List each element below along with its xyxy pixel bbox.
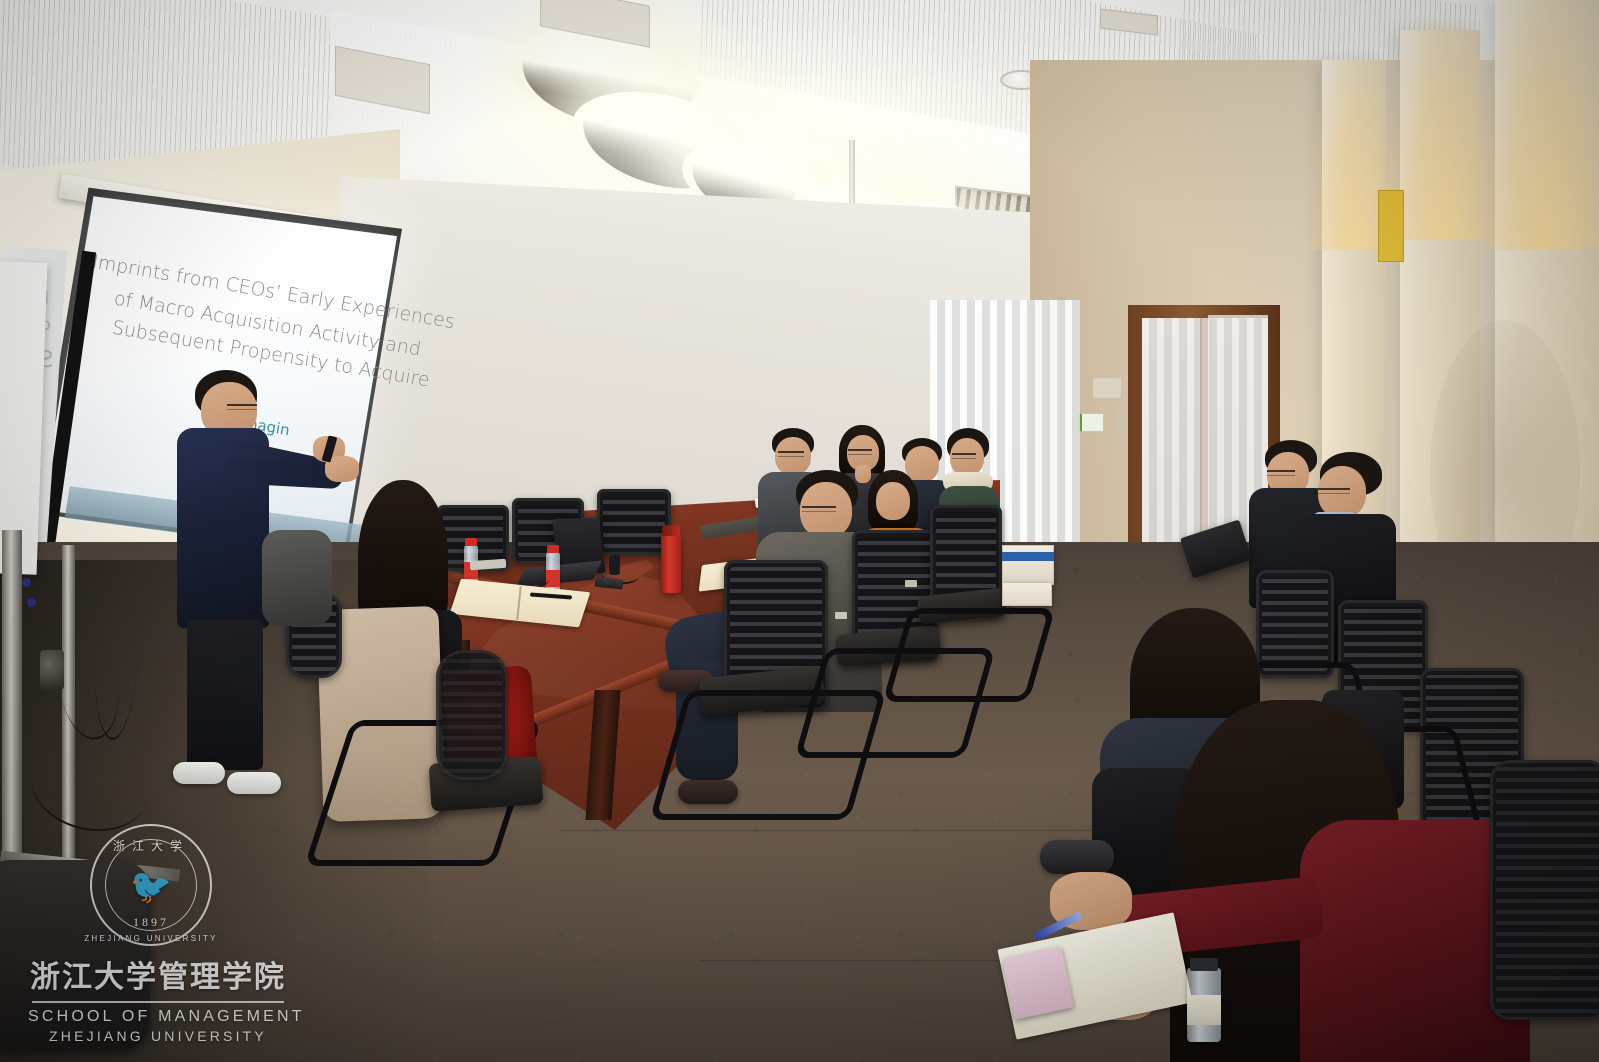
water-bottle-2-cap: [547, 545, 559, 553]
presenter-shoe-right: [227, 772, 281, 794]
water-bottle-5-cap: [1190, 958, 1218, 971]
carton-blue-band: [1002, 552, 1054, 561]
backpack-dark-left: [262, 530, 332, 626]
foreground-chair-back-dark[interactable]: [1490, 760, 1599, 1020]
presenter-glasses: [227, 404, 257, 410]
a9-glasses: [1318, 488, 1350, 494]
a8-glasses: [1267, 470, 1295, 476]
a2-glasses: [802, 506, 836, 512]
seminar-room-photograph: ThroughWay Imprints from CEOs’ Early Exp…: [0, 0, 1599, 1062]
chair-label-tag-2: [835, 612, 847, 619]
presenter-legs: [187, 620, 263, 770]
chair-frame-3: [883, 608, 1056, 702]
wall-sign-yellow: [1378, 190, 1404, 262]
chair-mesh-3: [603, 496, 665, 548]
water-bottle-5-label: [1187, 995, 1221, 1025]
cardboard-supply-box-2: [1002, 582, 1052, 606]
presenter-shoe-left: [173, 762, 225, 784]
chair-label-tag-1: [905, 580, 917, 587]
a5-glasses: [848, 449, 872, 455]
whiteboard-stand-pole-left: [2, 530, 22, 890]
chair-backrest-foreground[interactable]: [436, 650, 508, 780]
foreground-chair-dark[interactable]: [0, 860, 150, 1050]
cardboard-supply-box: [1002, 545, 1054, 585]
a7-glasses: [952, 453, 976, 459]
whiteboard-magnet-1[interactable]: [22, 578, 31, 587]
notepad-pink-sheet: [1002, 946, 1074, 1019]
a10-shoe: [1040, 840, 1114, 874]
chair-empty-3[interactable]: [597, 489, 671, 555]
wall-notice-paper-1: [1093, 378, 1121, 398]
chair-mesh-fg-right: [1496, 767, 1599, 1013]
chair-mesh-fg-2: [442, 657, 502, 773]
floor-seam-1: [560, 830, 1180, 831]
a4-glasses: [778, 451, 804, 457]
whiteboard-magnet-2[interactable]: [27, 598, 36, 607]
wall-notice-green-label: [1078, 413, 1104, 432]
